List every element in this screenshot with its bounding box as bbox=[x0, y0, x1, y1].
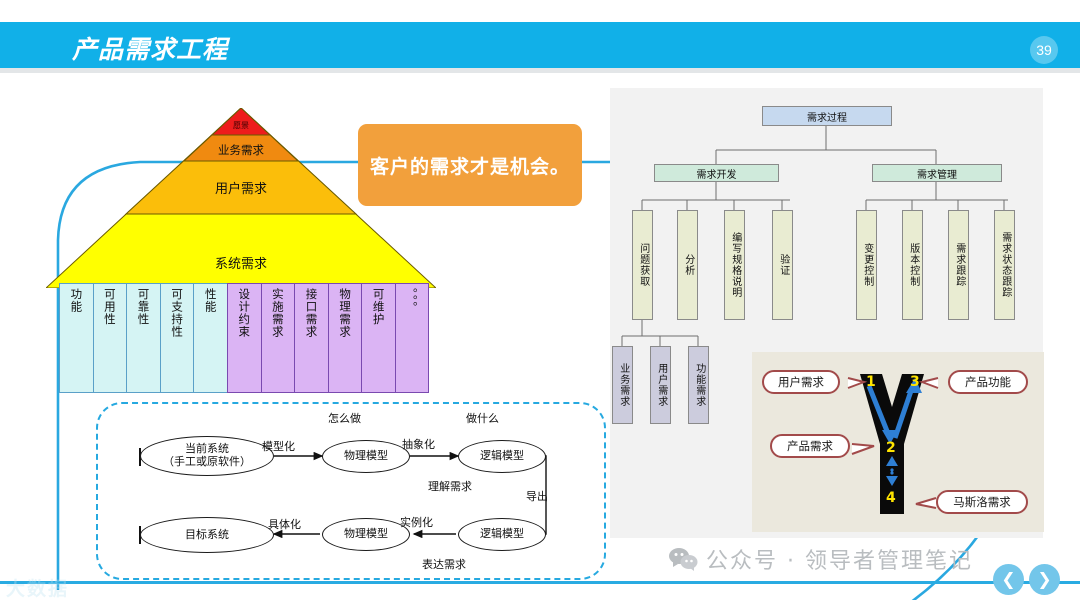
wechat-icon bbox=[668, 547, 698, 571]
tree-node-requirements-management-label: 需求管理 bbox=[917, 166, 957, 181]
tree-node-root-label: 需求过程 bbox=[807, 109, 847, 124]
flow-label-what-to-do: 做什么 bbox=[466, 410, 499, 426]
tree-leaf-requirement-status-tracking: 需求状态跟踪 bbox=[994, 210, 1015, 320]
footer-divider-line bbox=[0, 581, 1080, 584]
page-title: 产品需求工程 bbox=[72, 30, 228, 66]
header-underline bbox=[0, 68, 1080, 73]
tree-sub-user-requirement: 用户需求 bbox=[650, 346, 671, 424]
flow-edge-instantiation: 实例化 bbox=[400, 514, 433, 530]
flow-edge-modelization: 模型化 bbox=[262, 438, 295, 454]
y-number-1: 1 bbox=[866, 374, 876, 390]
flow-edge-abstraction: 抽象化 bbox=[402, 436, 435, 452]
column-接口需求: 接口需求 bbox=[294, 283, 328, 393]
column-可用性: 可用性 bbox=[93, 283, 127, 393]
y-number-2: 2 bbox=[886, 440, 896, 456]
flow-label-how-to-do: 怎么做 bbox=[328, 410, 361, 426]
pyramid-level-user-label: 用户需求 bbox=[215, 182, 267, 197]
flow-node-physical-model-bottom: 物理模型 bbox=[322, 518, 410, 551]
flow-node-current-system-line2: （手工或原软件） bbox=[163, 456, 251, 469]
pyramid-level-business-label: 业务需求 bbox=[218, 143, 264, 157]
y-number-4: 4 bbox=[886, 490, 896, 506]
flow-node-logical-model-top: 逻辑模型 bbox=[458, 440, 546, 473]
flow-edge-concretization: 具体化 bbox=[268, 516, 301, 532]
flow-edge-derive: 导出 bbox=[526, 488, 548, 504]
flow-node-target-system: 目标系统 bbox=[140, 517, 274, 553]
tree-leaf-write-specification: 编写规格说明 bbox=[724, 210, 745, 320]
tree-node-requirements-development: 需求开发 bbox=[654, 164, 779, 182]
flow-edge-express-requirements: 表达需求 bbox=[422, 556, 466, 572]
callout-user-requirement: 用户需求 bbox=[762, 370, 840, 394]
page-number-badge: 39 bbox=[1030, 36, 1058, 64]
callout-product-function: 产品功能 bbox=[948, 370, 1028, 394]
opportunity-callout-box: 客户的需求才是机会。 bbox=[358, 124, 582, 206]
column-性能: 性能 bbox=[193, 283, 227, 393]
pyramid-level-vision-label: 愿景 bbox=[233, 121, 249, 130]
requirement-category-columns: 功能 可用性 可靠性 可支持性 性能 设计约束 实施需求 接口需求 物理需求 可… bbox=[59, 283, 429, 393]
column-可靠性: 可靠性 bbox=[126, 283, 160, 393]
system-modeling-flow-panel: 怎么做 做什么 当前系统 （手工或原软件） 物理模型 逻辑模型 目标系统 物理模… bbox=[96, 402, 606, 580]
tree-node-root: 需求过程 bbox=[762, 106, 892, 126]
prev-page-button[interactable]: ❮ bbox=[993, 564, 1024, 595]
tree-leaf-version-control: 版本控制 bbox=[902, 210, 923, 320]
tree-node-requirements-management: 需求管理 bbox=[872, 164, 1002, 182]
footer-brand-text: 公众号 · 领导者管理笔记 bbox=[706, 543, 973, 575]
next-page-button[interactable]: ❯ bbox=[1029, 564, 1060, 595]
column-设计约束: 设计约束 bbox=[227, 283, 261, 393]
flow-node-physical-model-top: 物理模型 bbox=[322, 440, 410, 473]
column-可维护: 可维护 bbox=[361, 283, 395, 393]
callout-product-requirement: 产品需求 bbox=[770, 434, 850, 458]
tree-sub-function-requirement: 功能需求 bbox=[688, 346, 709, 424]
tree-leaf-verification: 验证 bbox=[772, 210, 793, 320]
column-物理需求: 物理需求 bbox=[328, 283, 362, 393]
callout-maslow-requirement: 马斯洛需求 bbox=[936, 490, 1028, 514]
tree-leaf-requirement-tracking: 需求跟踪 bbox=[948, 210, 969, 320]
column-ellipsis: 。。。 bbox=[395, 283, 429, 393]
tree-leaf-change-control: 变更控制 bbox=[856, 210, 877, 320]
column-可支持性: 可支持性 bbox=[160, 283, 194, 393]
flow-node-logical-model-bottom: 逻辑模型 bbox=[458, 518, 546, 551]
chevron-left-icon: ❮ bbox=[1001, 571, 1015, 588]
y-model-diagram-panel: 1 2 3 4 用户需求 产品功能 产品需求 马斯洛需求 bbox=[752, 352, 1044, 532]
opportunity-callout-text: 客户的需求才是机会。 bbox=[370, 152, 570, 179]
tree-sub-business-requirement: 业务需求 bbox=[612, 346, 633, 424]
y-number-3: 3 bbox=[910, 374, 920, 390]
flow-node-current-system: 当前系统 （手工或原软件） bbox=[140, 436, 274, 476]
watermark: 大数据 bbox=[6, 574, 69, 601]
pyramid-level-system: 系统需求 bbox=[46, 253, 436, 272]
tree-leaf-problem-acquisition: 问题获取 bbox=[632, 210, 653, 320]
top-white-strip bbox=[0, 0, 1080, 22]
column-功能: 功能 bbox=[59, 283, 93, 393]
watermark-text: 大数据 bbox=[6, 578, 69, 600]
chevron-right-icon: ❯ bbox=[1037, 571, 1051, 588]
tree-node-requirements-development-label: 需求开发 bbox=[697, 166, 737, 181]
column-实施需求: 实施需求 bbox=[261, 283, 295, 393]
tree-leaf-analysis: 分析 bbox=[677, 210, 698, 320]
footer-brand: 公众号 · 领导者管理笔记 bbox=[668, 543, 973, 575]
flow-edge-understand-requirements: 理解需求 bbox=[428, 478, 472, 494]
pyramid-level-system-label: 系统需求 bbox=[215, 257, 267, 272]
